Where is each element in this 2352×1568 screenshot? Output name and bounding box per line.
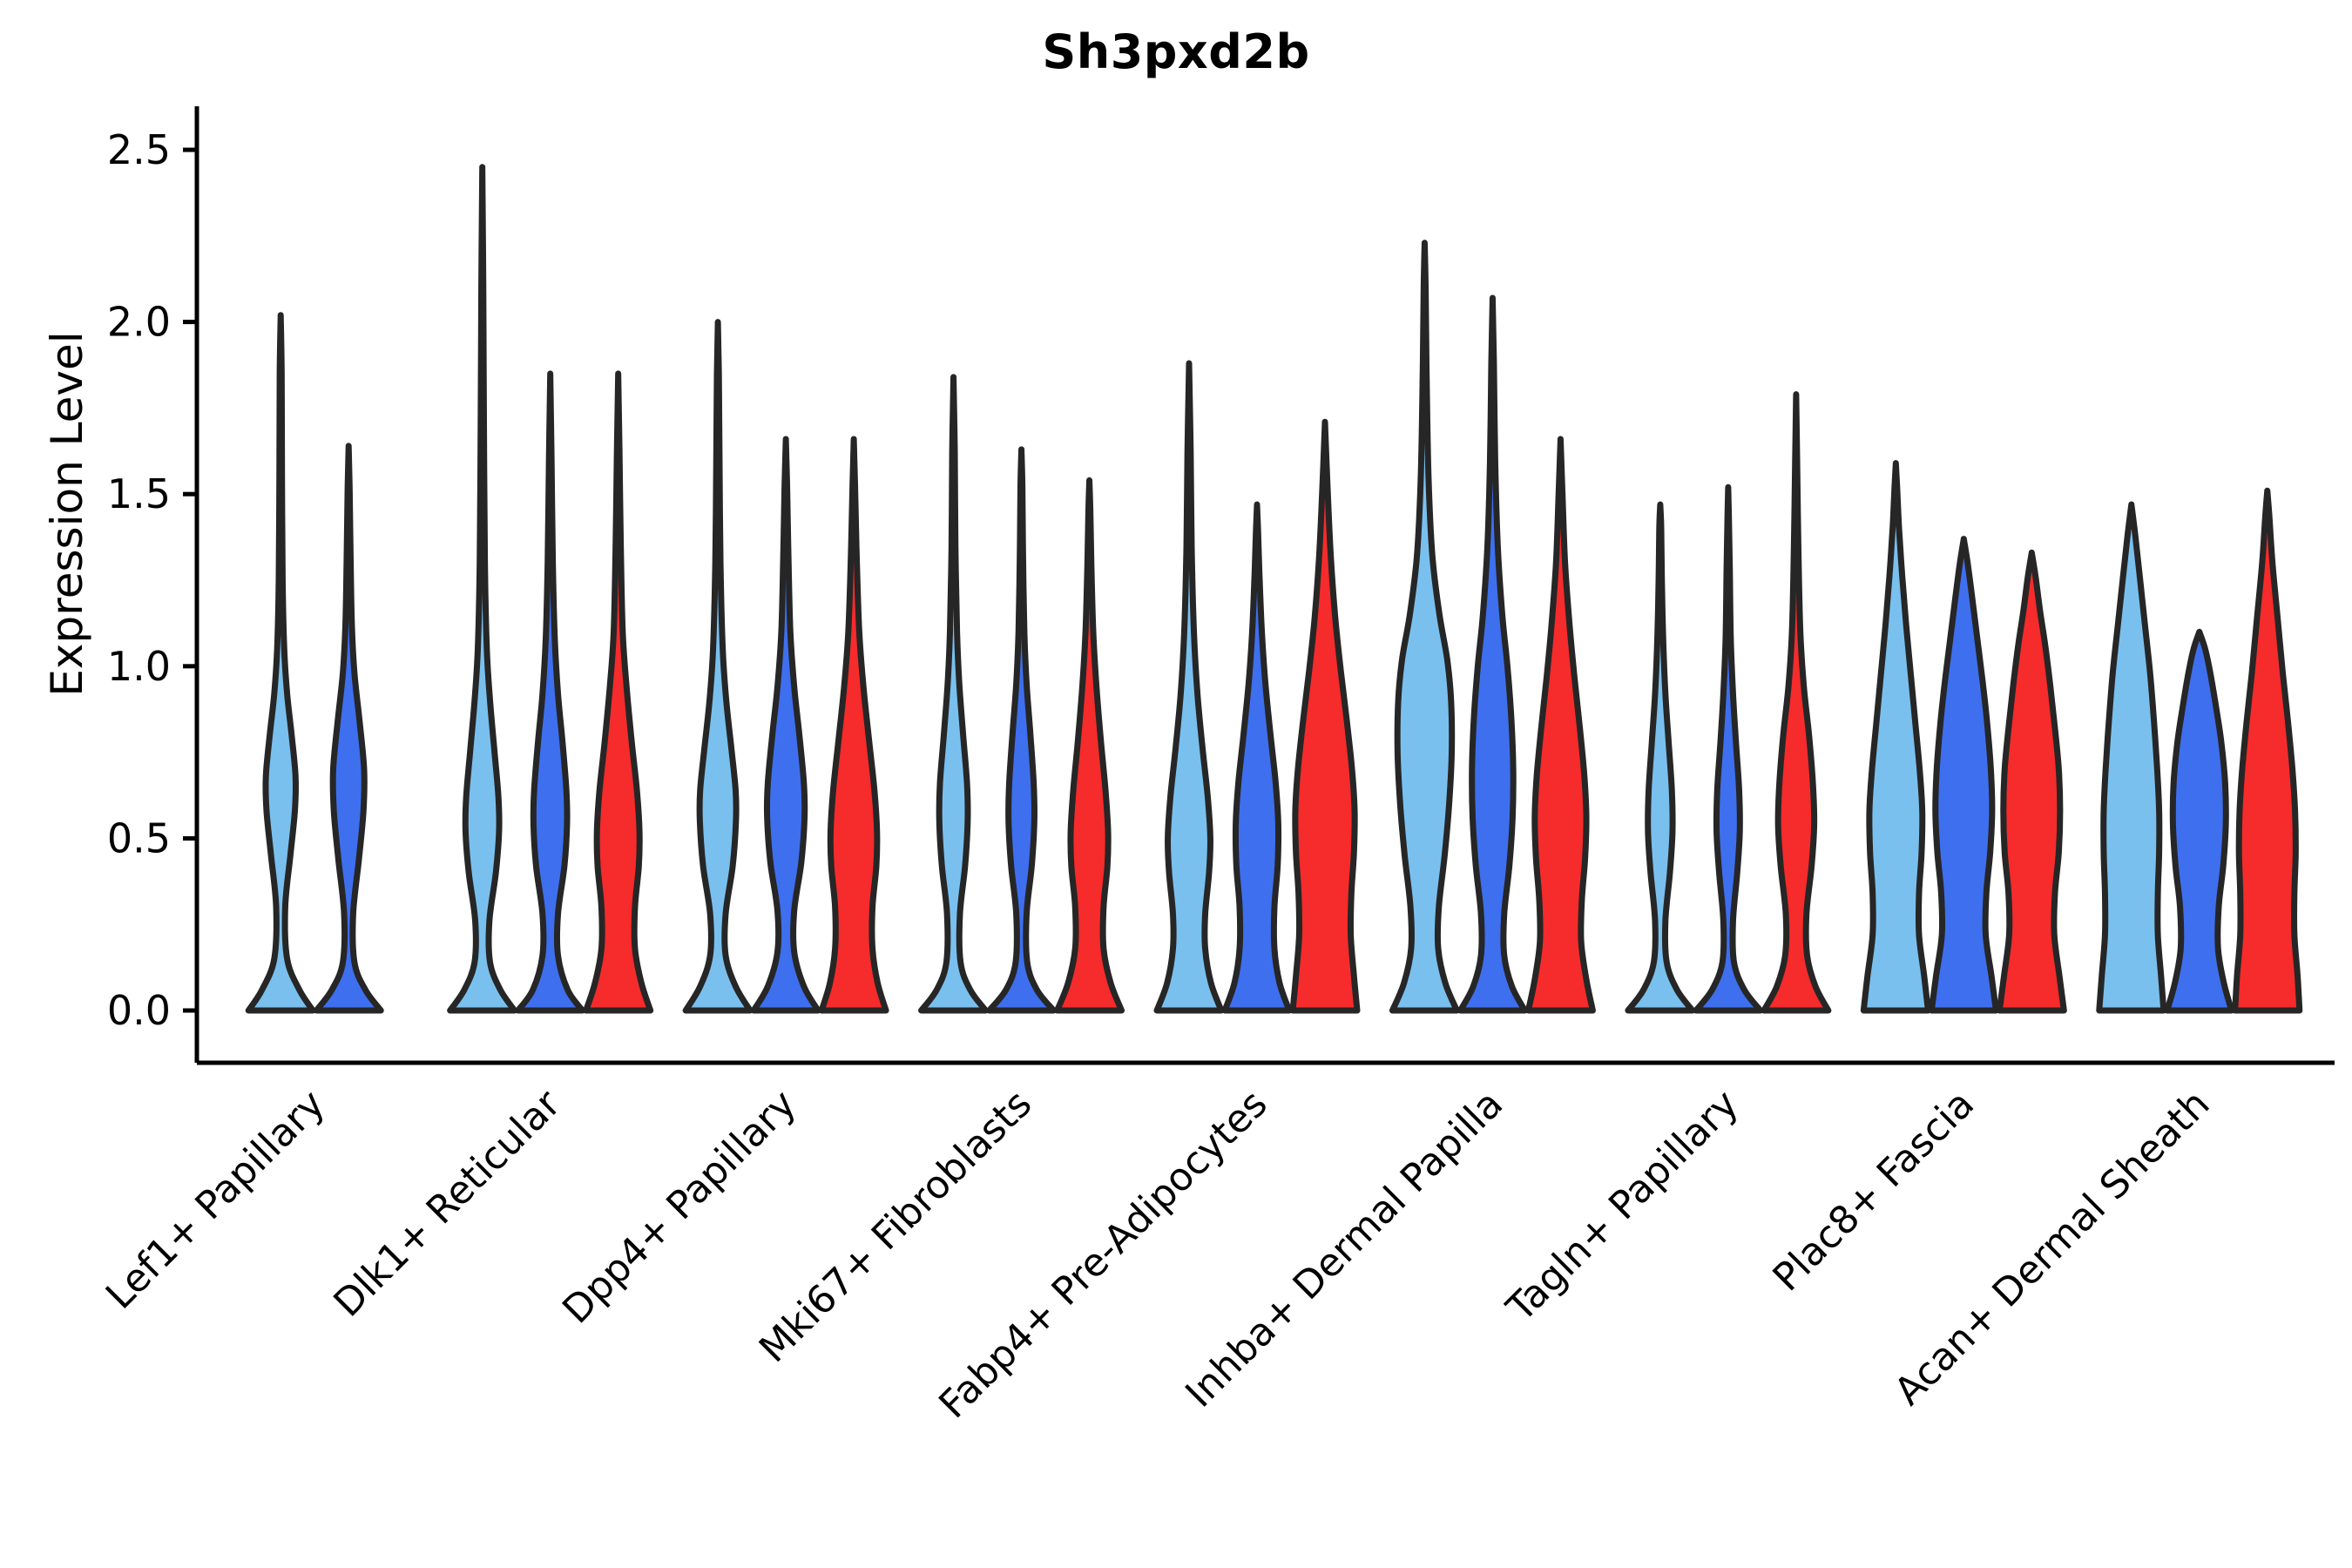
violin-light_blue <box>686 322 750 1010</box>
y-tick-label: 2.0 <box>107 299 171 346</box>
x-tick-label: Tagln+ Papillary <box>1498 1082 1747 1331</box>
violins-layer <box>248 167 2300 1010</box>
x-tick-label: Dlk1+ Reticular <box>325 1081 570 1326</box>
y-tick-label: 2.5 <box>107 126 171 173</box>
violin-red <box>1764 395 1828 1010</box>
violin-royal_blue <box>2167 632 2232 1010</box>
x-tick-label-group: Plac8+ Fascia <box>1765 1082 1984 1301</box>
x-tick-label-group: Dpp4+ Papillary <box>554 1082 805 1333</box>
violin-light_blue <box>1863 463 1928 1010</box>
x-tick-label: Plac8+ Fascia <box>1765 1082 1984 1301</box>
x-tick-label-group: Dlk1+ Reticular <box>325 1081 570 1326</box>
violin-light_blue <box>2099 504 2164 1010</box>
y-tick-labels: 0.00.51.01.52.02.5 <box>107 126 171 1034</box>
violin-light_blue <box>1157 363 1221 1010</box>
violin-red <box>1293 422 1357 1010</box>
violin-royal_blue <box>316 446 381 1010</box>
x-tick-label: Mki67+ Fibroblasts <box>751 1082 1040 1371</box>
violin-red <box>821 439 886 1010</box>
y-tick-label: 1.5 <box>107 470 171 517</box>
x-tick-label-group: Mki67+ Fibroblasts <box>751 1082 1040 1371</box>
violin-red <box>586 374 651 1010</box>
y-tick-label: 0.5 <box>107 814 171 862</box>
x-tick-label-group: Lef1+ Papillary <box>98 1082 334 1318</box>
violin-royal_blue <box>518 374 583 1010</box>
plot-canvas: 0.00.51.01.52.02.5 Lef1+ PapillaryDlk1+ … <box>0 0 2352 1568</box>
violin-royal_blue <box>754 439 818 1010</box>
violin-light_blue <box>1392 243 1456 1010</box>
violin-royal_blue <box>1460 298 1524 1010</box>
violin-light_blue <box>1628 504 1693 1010</box>
x-tick-label-group: Tagln+ Papillary <box>1498 1082 1747 1331</box>
violin-red <box>1058 480 1122 1010</box>
violin-red <box>1999 552 2064 1010</box>
violin-light_blue <box>450 167 515 1010</box>
y-tick-label: 1.0 <box>107 643 171 690</box>
violin-royal_blue <box>990 449 1054 1010</box>
violin-light_blue <box>248 315 313 1010</box>
violin-light_blue <box>922 377 986 1010</box>
x-tick-label: Dpp4+ Papillary <box>554 1082 805 1333</box>
x-tick-labels: Lef1+ PapillaryDlk1+ ReticularDpp4+ Papi… <box>98 1081 2219 1427</box>
violin-royal_blue <box>1931 539 1996 1010</box>
violin-red <box>2235 490 2300 1010</box>
violin-plot-figure: Sh3pxd2b Expression Level 0.00.51.01.52.… <box>0 0 2352 1568</box>
violin-royal_blue <box>1696 487 1761 1010</box>
y-tick-label: 0.0 <box>107 987 171 1034</box>
violin-red <box>1528 439 1592 1010</box>
violin-royal_blue <box>1225 504 1289 1010</box>
x-tick-label: Lef1+ Papillary <box>98 1082 334 1318</box>
